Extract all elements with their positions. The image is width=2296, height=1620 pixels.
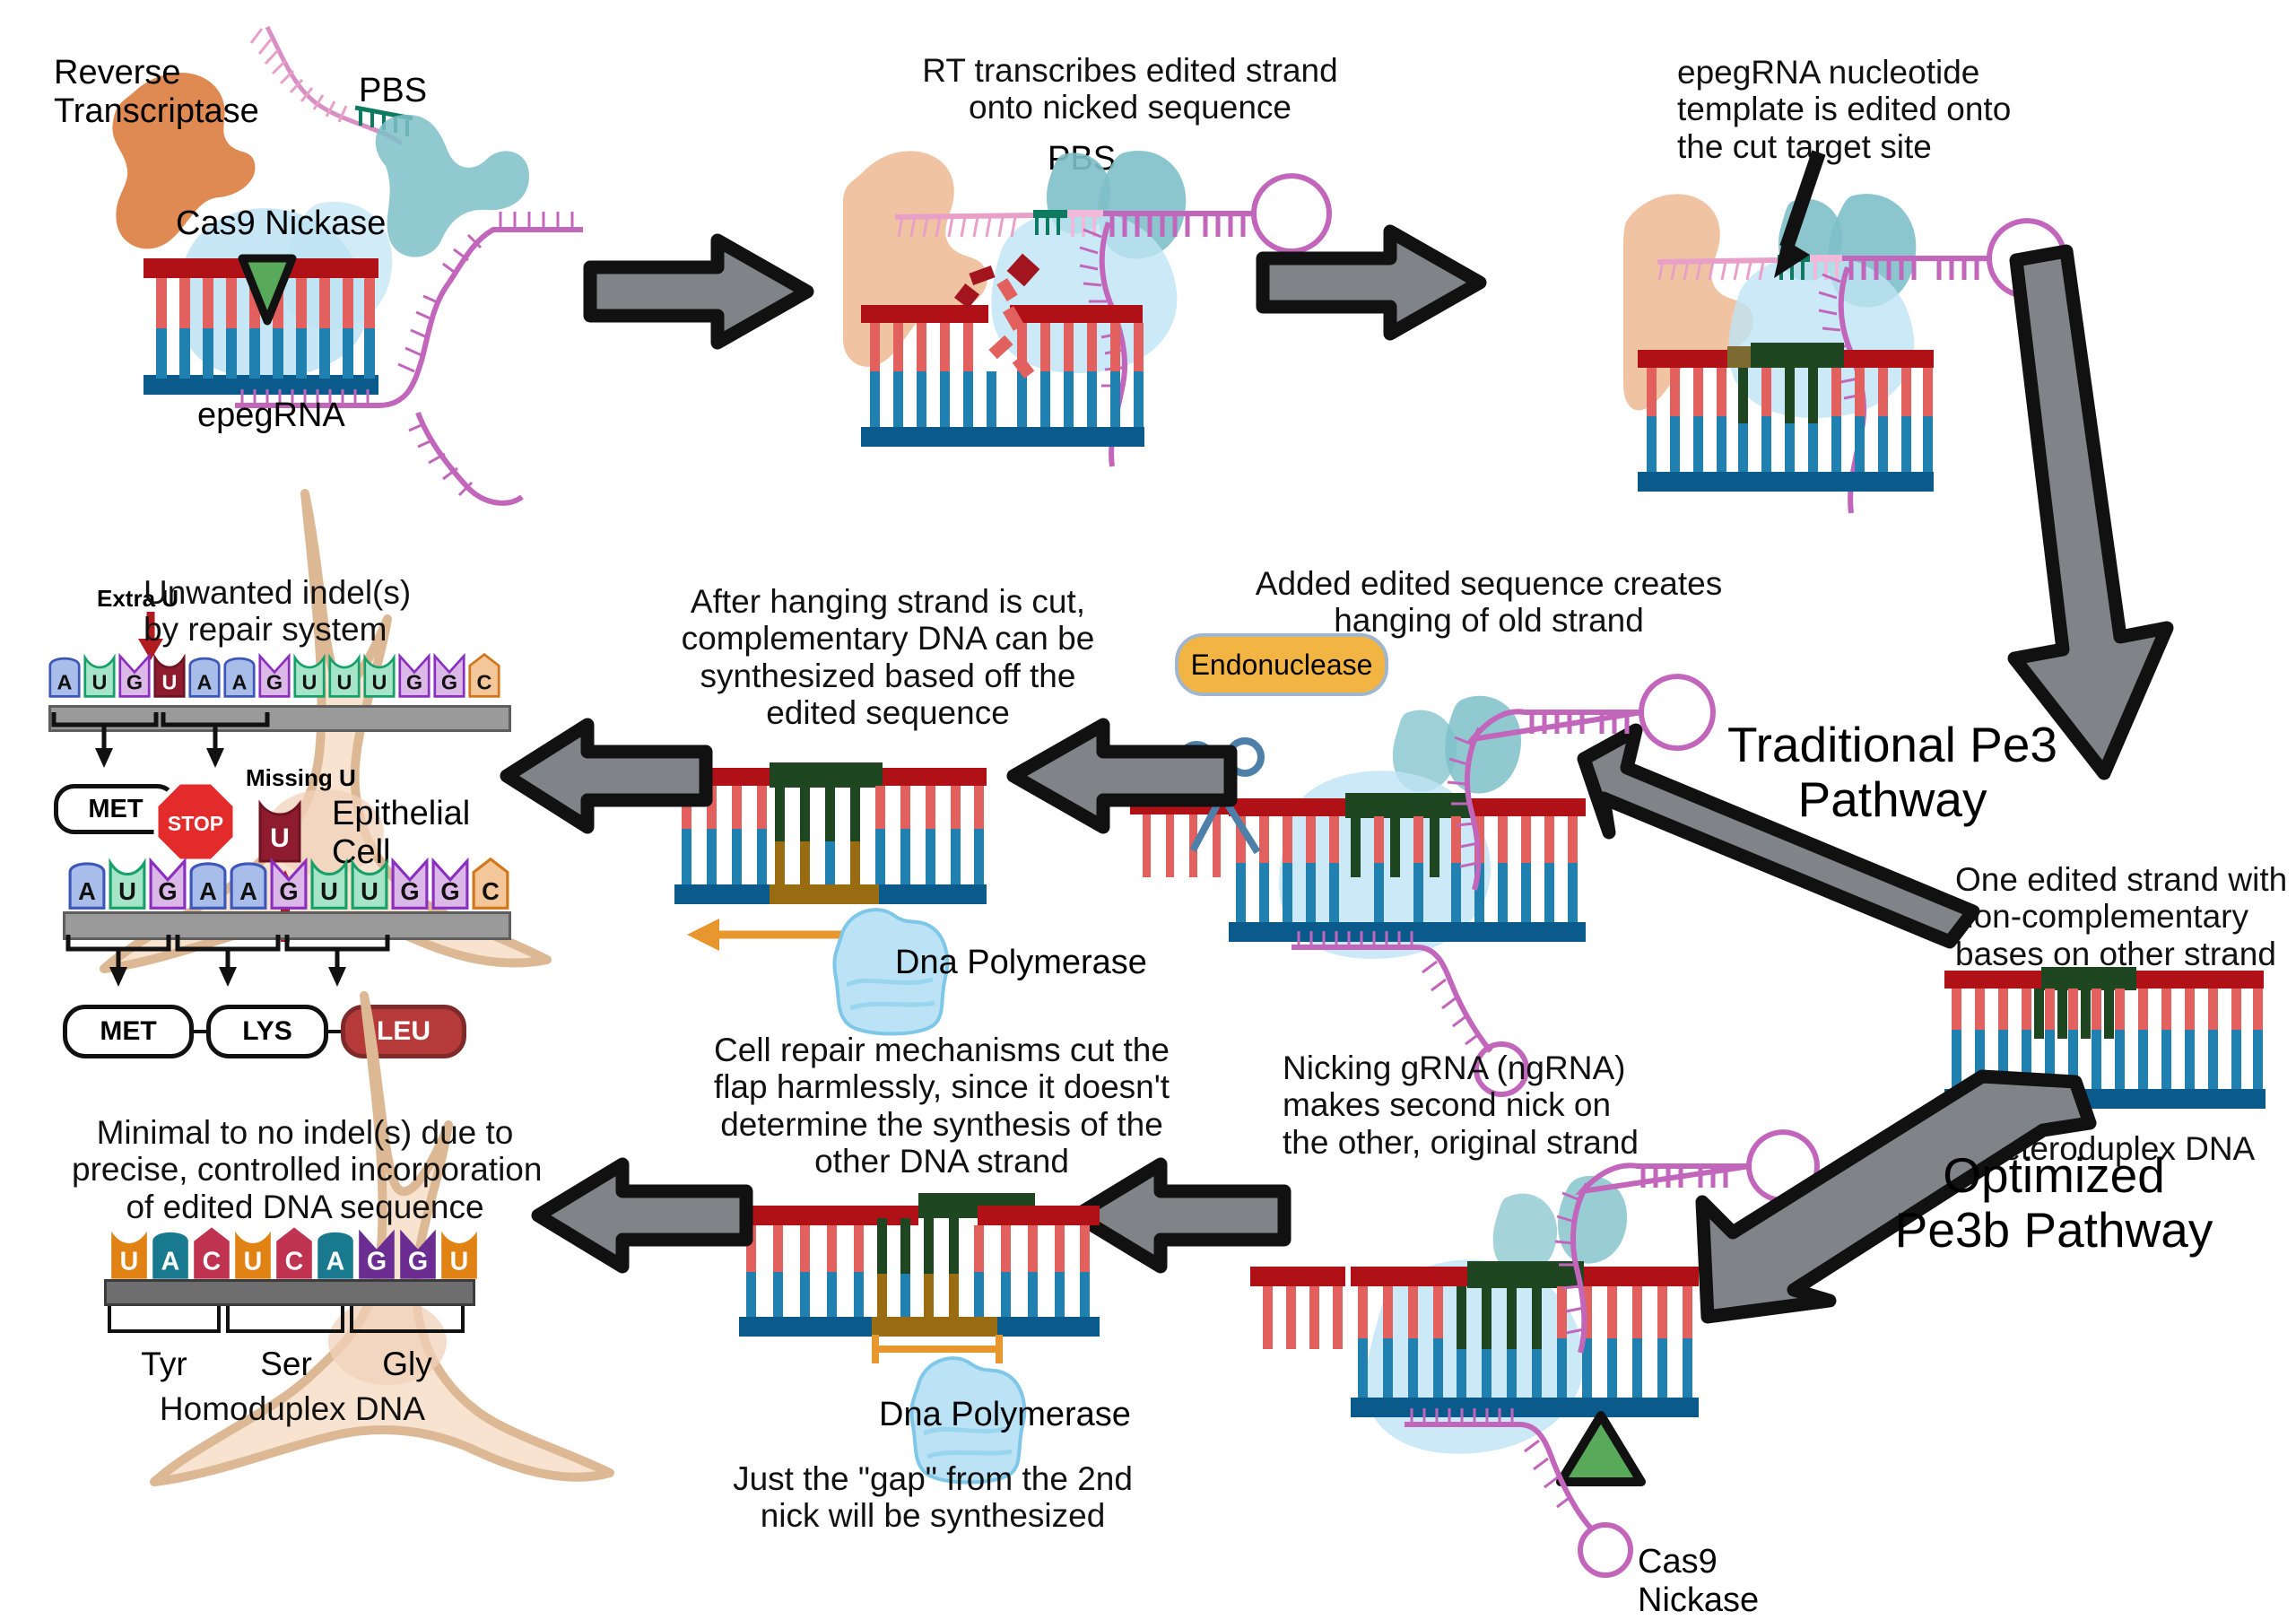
svg-text:U: U — [92, 670, 108, 693]
svg-text:G: G — [406, 670, 422, 693]
nucleotide-base-a: A — [316, 1224, 355, 1283]
nucleotide-base-u: U — [328, 648, 361, 703]
nucleotide-base-g: G — [149, 854, 187, 913]
nucleotide-base-u: U — [109, 1224, 149, 1283]
nucleotide-base-u: U — [293, 648, 326, 703]
heteroduplex-caption: One edited strand with non-complementary… — [1955, 861, 2296, 972]
nucleotide-base-a: A — [189, 854, 227, 913]
nucleotide-base-g: G — [433, 648, 465, 703]
nucleotide-base-g: G — [391, 854, 429, 913]
panel-endonuclease: Added edited sequence creates hanging of… — [1193, 556, 1767, 1058]
nucleotide-base-a: A — [188, 648, 221, 703]
cas9-nickase-label-2: Cas9 Nickase — [1638, 1543, 1848, 1620]
bottom-products: MET LYS LEU — [63, 1005, 466, 1058]
epegrna-label: epegRNA — [197, 396, 345, 435]
svg-text:C: C — [482, 877, 500, 905]
nucleotide-base-u: U — [83, 648, 116, 703]
nucleotide-base-g: G — [431, 854, 469, 913]
svg-text:U: U — [372, 670, 387, 693]
panel-gap-synthesis: Cell repair mechanisms cut the flap harm… — [691, 1023, 1265, 1489]
svg-text:G: G — [367, 1248, 387, 1276]
complementary-synthesis-caption: After hanging strand is cut, complementa… — [628, 583, 1148, 732]
homoduplex-caption: Minimal to no indel(s) due to precise, c… — [72, 1114, 538, 1225]
gap-synthesis-caption: Cell repair mechanisms cut the flap harm… — [691, 1032, 1193, 1180]
endonuclease-caption: Added edited sequence creates hanging of… — [1229, 565, 1749, 640]
svg-text:U: U — [244, 1248, 263, 1276]
homoduplex-codon-brackets — [104, 1302, 481, 1347]
svg-text:G: G — [440, 877, 459, 905]
svg-text:A: A — [326, 1248, 345, 1276]
svg-text:G: G — [126, 670, 143, 693]
svg-text:G: G — [158, 877, 177, 905]
nucleotide-base-a: A — [48, 648, 81, 703]
panel-initial-complex: Reverse Transcriptase Cas9 Nickase epegR… — [27, 9, 583, 511]
cas9-nickase-triangle-2-icon — [1561, 1415, 1641, 1482]
arrow-right-2 — [1256, 224, 1489, 341]
codon-label-tyr: Tyr — [104, 1346, 224, 1383]
svg-text:A: A — [57, 670, 73, 693]
nucleotide-base-g: G — [398, 648, 430, 703]
bottom-rna-sequence: AUGAAGUUGGC — [68, 854, 509, 913]
svg-text:U: U — [361, 877, 378, 905]
nucleotide-base-u: U — [109, 854, 146, 913]
nucleotide-base-a: A — [68, 854, 106, 913]
template-edited-caption: epegRNA nucleotide template is edited on… — [1677, 54, 2081, 165]
homoduplex-sequence: UACUCAGGU — [109, 1224, 479, 1283]
nucleotide-base-u: U — [153, 648, 186, 703]
arrow-right-1 — [583, 233, 816, 350]
codon-label-gly: Gly — [348, 1346, 466, 1383]
nucleotide-base-u: U — [310, 854, 348, 913]
nucleotide-base-g: G — [398, 1224, 438, 1283]
bottom-codon-brackets — [63, 917, 511, 994]
svg-text:C: C — [477, 670, 492, 693]
nucleotide-base-c: C — [472, 854, 509, 913]
svg-text:A: A — [197, 670, 213, 693]
svg-text:G: G — [266, 670, 283, 693]
nucleotide-base-u: U — [363, 648, 396, 703]
svg-text:A: A — [161, 1248, 180, 1276]
panel-unwanted-indels: Extra U Unwanted indel(s) by repair syst… — [18, 565, 592, 1014]
nucleotide-base-g: G — [357, 1224, 396, 1283]
nucleotide-base-a: A — [230, 854, 267, 913]
nucleotide-base-u: U — [233, 1224, 273, 1283]
svg-text:G: G — [408, 1248, 428, 1276]
nucleotide-base-u: U — [351, 854, 388, 913]
nucleotide-base-c: C — [274, 1224, 314, 1283]
svg-text:C: C — [203, 1248, 222, 1276]
bottom-product-lys: LYS — [206, 1005, 328, 1058]
svg-text:A: A — [78, 877, 96, 905]
nucleotide-base-a: A — [223, 648, 256, 703]
top-rna-sequence: AUGUAAGUUUGGC — [48, 648, 500, 703]
diagram-canvas: Reverse Transcriptase Cas9 Nickase epegR… — [0, 0, 2296, 1607]
bottom-product-leu: LEU — [341, 1005, 466, 1058]
reverse-transcriptase-label: Reverse Transcriptase — [54, 54, 296, 131]
svg-text:U: U — [270, 823, 290, 853]
svg-text:A: A — [199, 877, 217, 905]
svg-text:A: A — [239, 877, 257, 905]
rt-transcribes-caption: RT transcribes edited strand onto nicked… — [879, 52, 1381, 126]
svg-text:A: A — [232, 670, 248, 693]
unwanted-indels-caption: Unwanted indel(s) by repair system — [143, 574, 502, 649]
svg-text:U: U — [120, 1248, 139, 1276]
homoduplex-codon-labels: Tyr Ser Gly — [104, 1346, 481, 1383]
pbs-label: PBS — [359, 72, 427, 110]
nucleotide-base-g: G — [118, 648, 151, 703]
svg-text:U: U — [162, 670, 178, 693]
endonuclease-label: Endonuclease — [1191, 649, 1373, 682]
nucleotide-base-g: G — [258, 648, 291, 703]
nucleotide-base-c: C — [468, 648, 500, 703]
nucleotide-base-g: G — [270, 854, 308, 913]
homoduplex-dna-label: Homoduplex DNA — [104, 1390, 481, 1427]
dna-polymerase-label: Dna Polymerase — [895, 944, 1147, 982]
optimized-pe3b-pathway-label: Optimized Pe3b Pathway — [1857, 1148, 2251, 1257]
nucleotide-base-u: U — [439, 1224, 479, 1283]
svg-text:C: C — [285, 1248, 304, 1276]
svg-text:G: G — [441, 670, 457, 693]
svg-text:G: G — [279, 877, 298, 905]
stop-text: STOP — [168, 812, 223, 835]
ngrna-caption: Nicking gRNA (ngRNA) makes second nick o… — [1283, 1050, 1668, 1161]
missing-u-label: Missing U — [246, 764, 356, 792]
panel-homoduplex: Minimal to no indel(s) due to precise, c… — [54, 1076, 610, 1579]
bottom-product-met: MET — [63, 1005, 194, 1058]
svg-text:G: G — [400, 877, 419, 905]
codon-label-ser: Ser — [224, 1346, 348, 1383]
cas9-nickase-label: Cas9 Nickase — [176, 205, 386, 243]
stop-sign-icon: STOP — [152, 779, 239, 865]
dna-polymerase-label-2: Dna Polymerase — [879, 1396, 1131, 1434]
nucleotide-base-a: A — [151, 1224, 190, 1283]
gap-note: Just the "gap" from the 2nd nick will be… — [691, 1460, 1175, 1535]
nucleotide-base-c: C — [192, 1224, 231, 1283]
svg-text:U: U — [302, 670, 317, 693]
svg-text:U: U — [337, 670, 352, 693]
svg-text:U: U — [450, 1248, 469, 1276]
gap-synthesis-graphic — [734, 1193, 1092, 1354]
svg-text:U: U — [118, 877, 136, 905]
svg-text:U: U — [320, 877, 338, 905]
